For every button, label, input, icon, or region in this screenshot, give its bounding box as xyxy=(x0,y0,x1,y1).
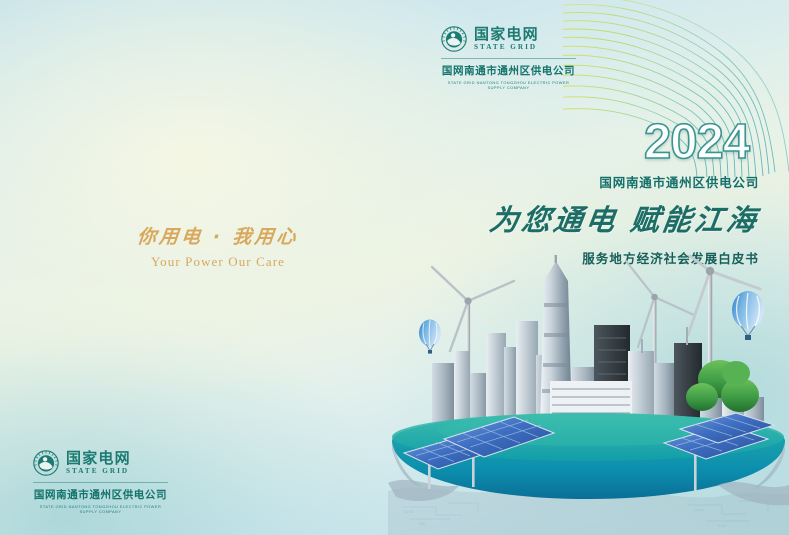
whitepaper-cover: 国家电网 STATE GRID 国网南通市通州区供电公司 STATE GRID … xyxy=(0,0,789,535)
solar-panel-array-right xyxy=(664,413,774,491)
title-year: 2024 xyxy=(439,118,749,167)
slogan-english: Your Power Our Care xyxy=(128,254,308,270)
landmark-tower xyxy=(540,261,572,425)
logo-company-en: STATE GRID NANTONG TONGZHOU ELECTRIC POW… xyxy=(33,504,168,514)
title-calligraphy: 为您通电 赋能江海 xyxy=(436,197,762,239)
logo-brand-en: STATE GRID xyxy=(474,44,539,51)
solar-panel-array-left xyxy=(404,417,554,489)
title-whitepaper-label: 服务地方经济社会发展白皮书 xyxy=(439,248,759,267)
logo-company-cn: 国网南通市通州区供电公司 xyxy=(33,487,168,502)
svg-text:11010: 11010 xyxy=(694,509,704,513)
trees xyxy=(538,360,759,445)
city-skyline xyxy=(432,255,764,435)
wind-turbine-right xyxy=(670,255,760,415)
teal-island-dome xyxy=(392,413,785,499)
back-cover-slogan: 你用电 · 我用心 Your Power Our Care xyxy=(128,222,308,270)
svg-text:1001: 1001 xyxy=(418,523,426,527)
state-grid-logo-top: 国家电网 STATE GRID 国网南通市通州区供电公司 STATE GRID … xyxy=(441,26,576,90)
logo-divider xyxy=(33,482,168,483)
svg-text:01101: 01101 xyxy=(404,511,414,515)
svg-text:0110: 0110 xyxy=(718,525,726,529)
state-grid-logo-bottom: 国家电网 STATE GRID 国网南通市通州区供电公司 STATE GRID … xyxy=(33,450,168,514)
logo-divider xyxy=(441,58,576,59)
floating-eco-city-island: 011011001 110100110 xyxy=(388,255,789,535)
logo-company-cn: 国网南通市通州区供电公司 xyxy=(441,63,576,78)
logo-brand-cn: 国家电网 xyxy=(474,27,539,42)
logo-company-en: STATE GRID NANTONG TONGZHOU ELECTRIC POW… xyxy=(441,80,576,90)
circuit-board-texture: 011011001 110100110 xyxy=(388,488,789,535)
island-rock-fringe xyxy=(388,480,789,505)
wind-turbine-center xyxy=(626,261,694,413)
cover-title-block: 2024 国网南通市通州区供电公司 为您通电 赋能江海 服务地方经济社会发展白皮… xyxy=(439,118,759,267)
hot-air-balloon-small xyxy=(419,320,441,354)
hot-air-balloon-large xyxy=(732,291,764,340)
state-grid-emblem xyxy=(33,450,59,476)
title-organization: 国网南通市通州区供电公司 xyxy=(439,172,759,191)
logo-brand-en: STATE GRID xyxy=(66,468,131,475)
logo-brand-cn: 国家电网 xyxy=(66,451,131,466)
slogan-chinese: 你用电 · 我用心 xyxy=(127,222,310,249)
state-grid-emblem xyxy=(441,26,467,52)
wind-turbine-left xyxy=(432,267,514,411)
